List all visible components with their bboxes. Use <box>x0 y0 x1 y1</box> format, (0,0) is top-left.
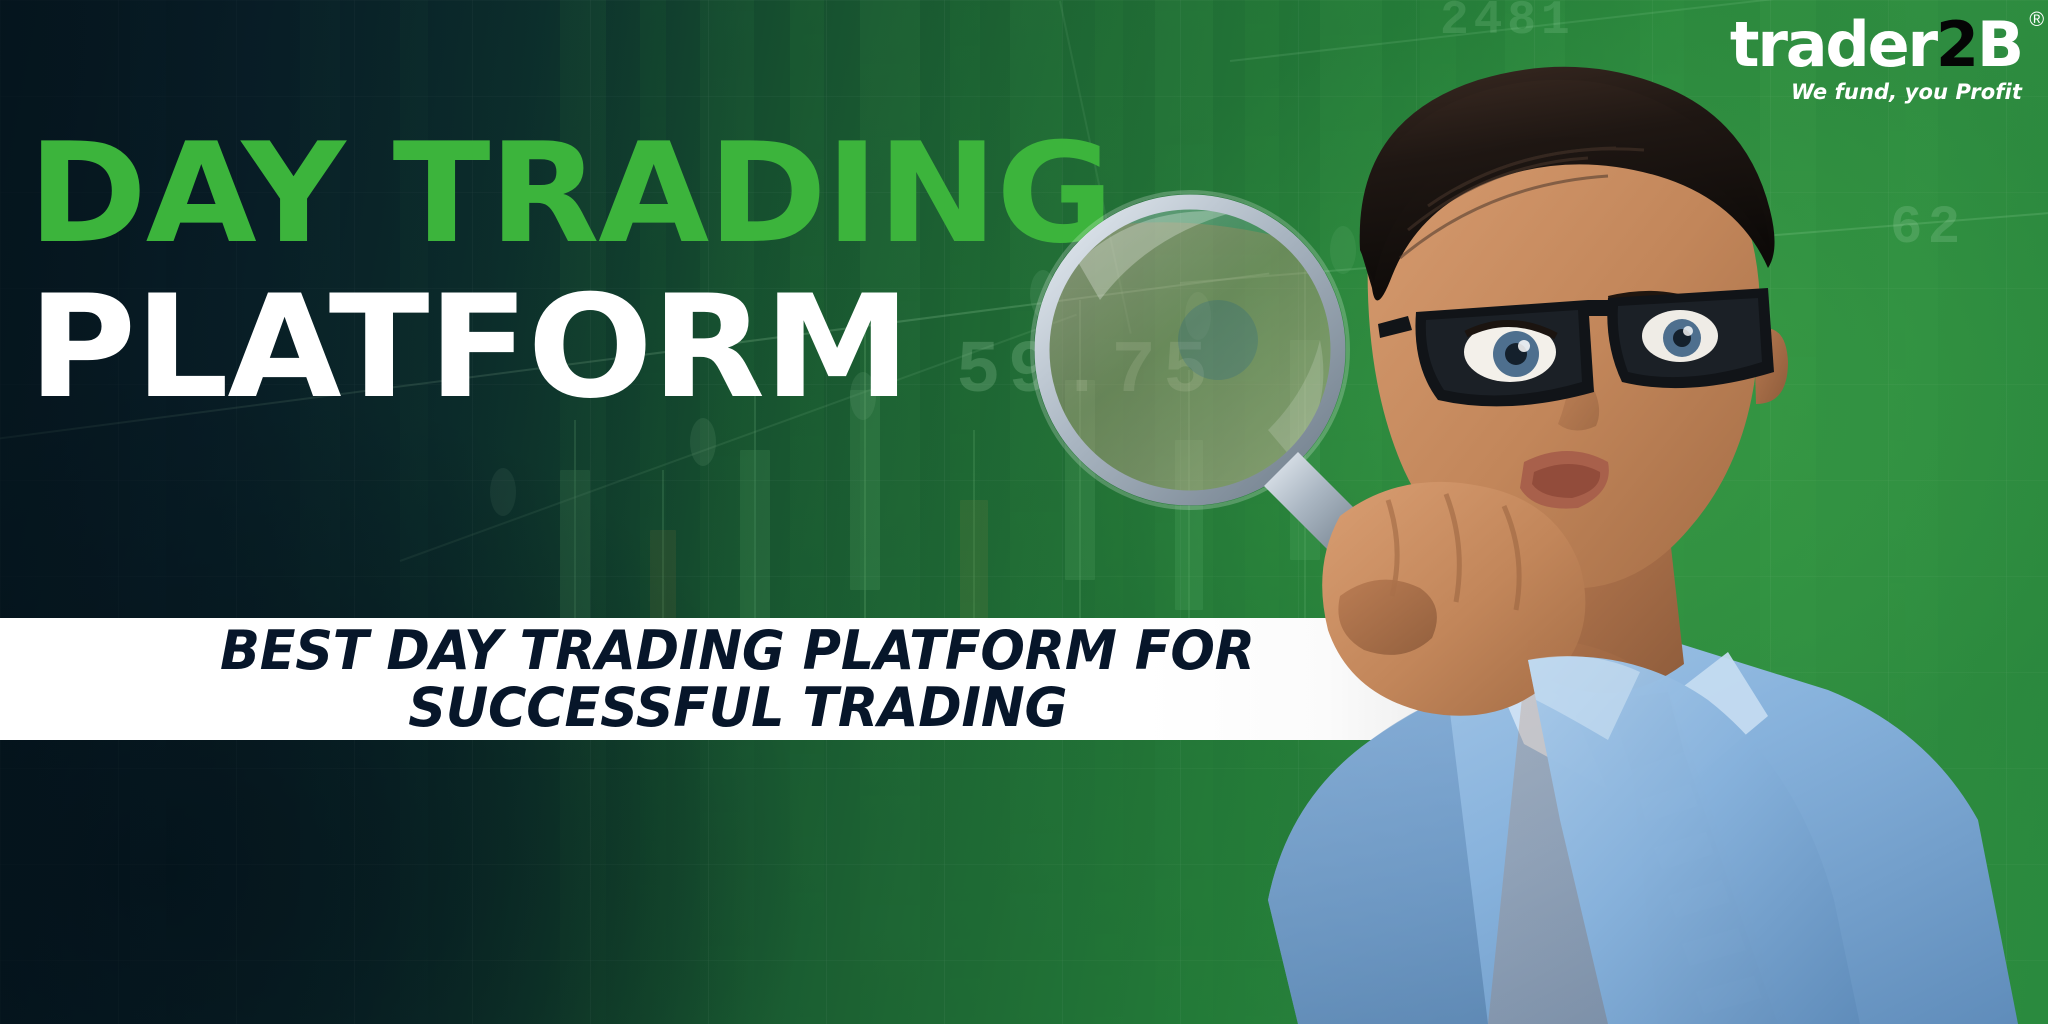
logo-tagline: We fund, you Profit <box>1730 80 2022 104</box>
magnifying-glass-icon <box>1032 192 1368 556</box>
logo-text-b: B <box>1977 8 2022 81</box>
person-illustration <box>968 0 2048 1024</box>
brand-logo[interactable]: trader2B ® We fund, you Profit <box>1730 14 2022 104</box>
headline-line-2: PLATFORM <box>28 281 1113 416</box>
logo-text-2: 2 <box>1936 8 1977 81</box>
logo-text-trader: trader <box>1730 8 1936 81</box>
headline-line-1: DAY TRADING <box>28 128 1113 259</box>
logo-wordmark: trader2B ® <box>1730 14 2022 76</box>
registered-trademark-icon: ® <box>2029 10 2042 30</box>
headline: DAY TRADING PLATFORM <box>28 128 1071 416</box>
marketing-banner: 59.75 62 2481 <box>0 0 2048 1024</box>
